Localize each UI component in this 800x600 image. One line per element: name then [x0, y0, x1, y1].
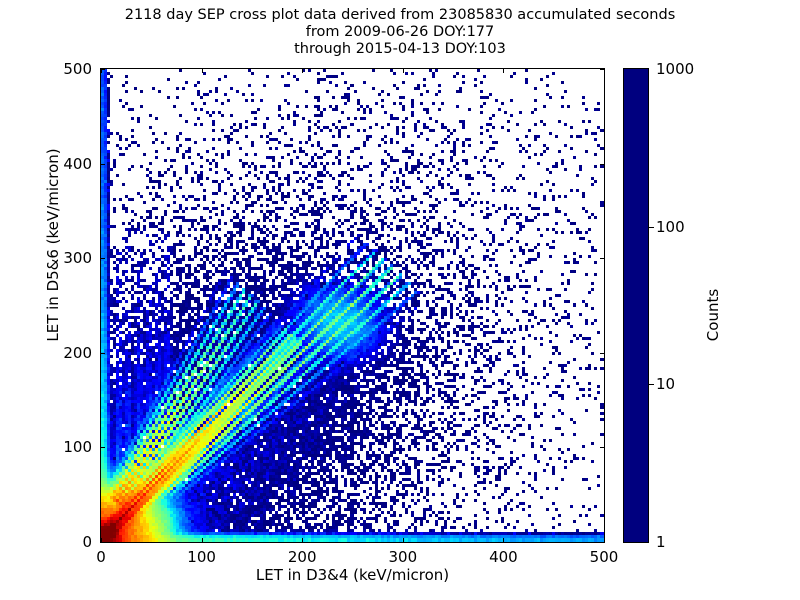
x-tick-label: 300: [388, 548, 417, 566]
colorbar-tick-label: 10: [656, 375, 675, 393]
colorbar-tick-label: 1: [656, 533, 666, 551]
y-tick-mark: [101, 69, 105, 70]
x-tick-label: 100: [187, 548, 216, 566]
y-tick-label: 500: [4, 60, 92, 78]
y-tick-mark-right: [600, 164, 604, 165]
x-tick-mark-top: [403, 69, 404, 73]
x-axis-label: LET in D3&4 (keV/micron): [100, 566, 605, 584]
x-tick-mark-top: [302, 69, 303, 73]
colorbar-label: Counts: [704, 235, 722, 395]
title-line-1: 2118 day SEP cross plot data derived fro…: [0, 7, 800, 24]
y-tick-mark-right: [600, 447, 604, 448]
x-tick-mark: [503, 538, 504, 542]
x-tick-label: 0: [96, 548, 106, 566]
x-tick-label: 400: [489, 548, 518, 566]
title-line-3: through 2015-04-13 DOY:103: [0, 41, 800, 58]
plot-title: 2118 day SEP cross plot data derived fro…: [0, 7, 800, 58]
x-tick-label: 500: [590, 548, 619, 566]
x-tick-mark-top: [202, 69, 203, 73]
colorbar-tick-mark: [649, 227, 654, 228]
x-tick-mark-top: [503, 69, 504, 73]
x-tick-label: 200: [288, 548, 317, 566]
plot-area: [100, 68, 605, 543]
x-tick-mark: [604, 538, 605, 542]
density-heatmap: [101, 69, 604, 542]
y-tick-label: 0: [4, 533, 92, 551]
x-tick-mark: [302, 538, 303, 542]
y-tick-mark-right: [600, 258, 604, 259]
colorbar-tick-mark: [649, 384, 654, 385]
x-tick-mark: [202, 538, 203, 542]
colorbar-tick-label: 100: [656, 218, 685, 236]
title-line-2: from 2009-06-26 DOY:177: [0, 24, 800, 41]
y-axis-label: LET in D5&6 (keV/micron): [44, 85, 62, 405]
y-tick-mark: [101, 542, 105, 543]
y-tick-mark: [101, 164, 105, 165]
x-tick-mark-top: [604, 69, 605, 73]
y-tick-mark-right: [600, 69, 604, 70]
colorbar: [623, 68, 649, 543]
y-tick-mark-right: [600, 353, 604, 354]
colorbar-gradient: [624, 69, 648, 542]
y-tick-mark: [101, 447, 105, 448]
x-tick-mark: [403, 538, 404, 542]
y-tick-label: 100: [4, 438, 92, 456]
y-tick-mark: [101, 258, 105, 259]
figure-canvas: 2118 day SEP cross plot data derived fro…: [0, 0, 800, 600]
y-tick-mark-right: [600, 542, 604, 543]
y-tick-mark: [101, 353, 105, 354]
colorbar-tick-label: 1000: [656, 60, 694, 78]
